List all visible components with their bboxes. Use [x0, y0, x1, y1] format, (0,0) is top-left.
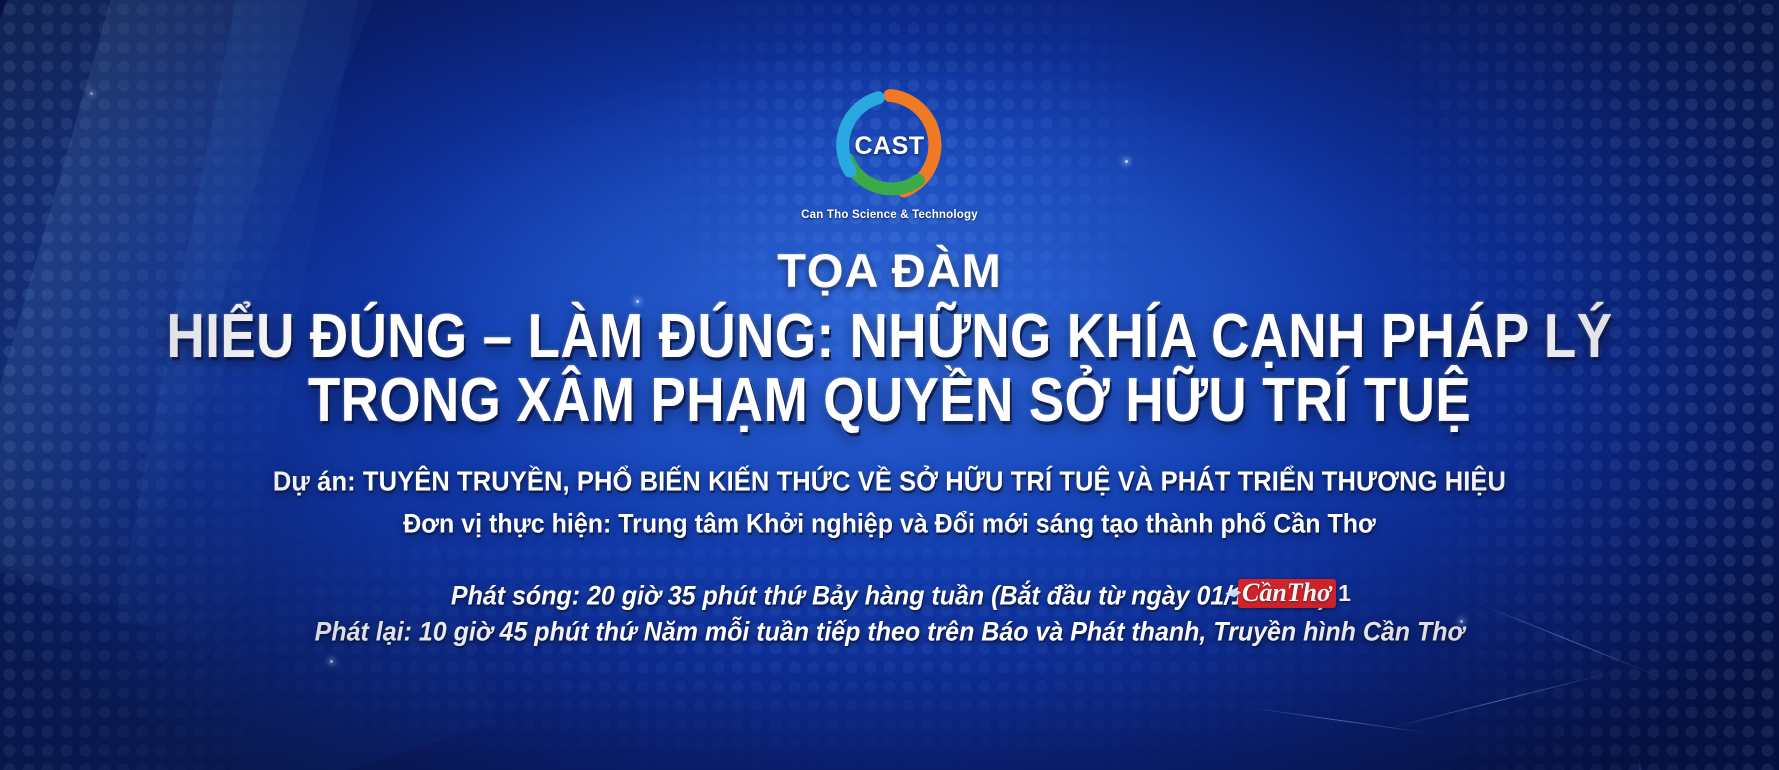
cast-tagline: Can Tho Science & Technology [801, 209, 978, 221]
project-label: Dự án: TUYÊN TRUYỀN, PHỔ BIẾN KIẾN THỨC … [0, 467, 1779, 499]
cast-logo: CAST Can Tho Science & Technology [0, 86, 1779, 221]
broadcast-schedule: Phát sóng: 20 giờ 35 phút thứ Bảy hàng t… [0, 581, 1779, 612]
cantho-wordmark: CầnThơ [1238, 579, 1336, 608]
rerun-schedule: Phát lại: 10 giờ 45 phút thứ Năm mỗi tuầ… [0, 617, 1779, 648]
kicker-heading: TỌA ĐÀM [0, 243, 1779, 298]
page-title-line-2: TRONG XÂM PHẠM QUYỀN SỞ HỮU TRÍ TUỆ [0, 365, 1779, 437]
poster-canvas: CAST Can Tho Science & Technology TỌA ĐÀ… [0, 0, 1779, 770]
channel-number: 1 [1338, 580, 1351, 607]
cast-wordmark: CAST [831, 132, 949, 161]
organizing-unit-label: Đơn vị thực hiện: Trung tâm Khởi nghiệp … [0, 509, 1779, 540]
sparkle-dot [330, 660, 333, 663]
cantho-tv-logo: CầnThơ 1 [1225, 578, 1351, 608]
page-title-line-1: HIỂU ĐÚNG – LÀM ĐÚNG: NHỮNG KHÍA CẠNH PH… [0, 301, 1779, 373]
